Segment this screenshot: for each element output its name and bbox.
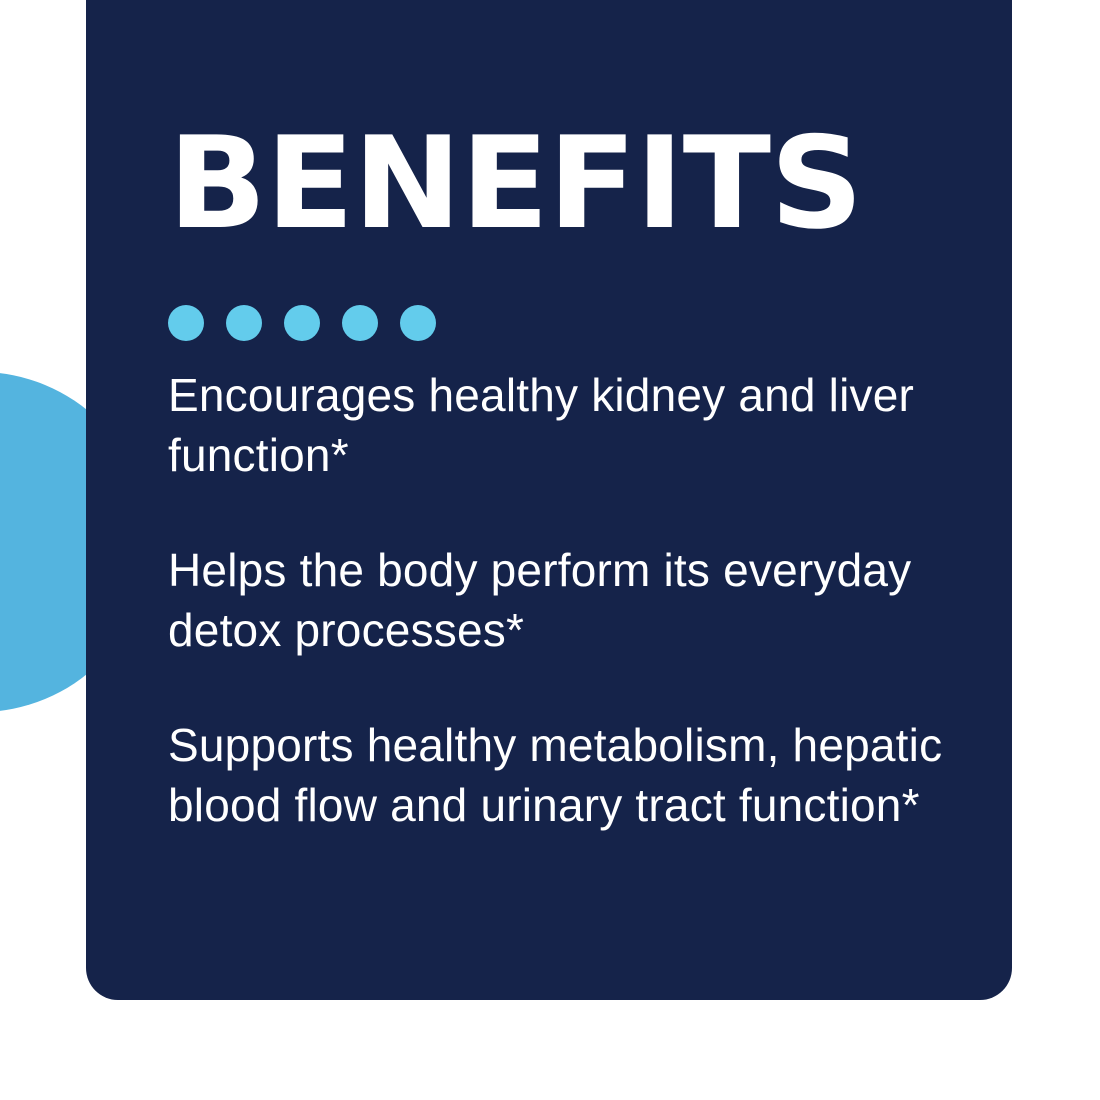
benefits-graphic: BENEFITS Encourages healthy kidney and l… — [0, 0, 1100, 1100]
page-title: BENEFITS — [168, 120, 862, 247]
divider-dot-icon — [400, 305, 436, 341]
divider-dot-icon — [226, 305, 262, 341]
divider-dot-icon — [168, 305, 204, 341]
benefit-item: Encourages healthy kidney and liver func… — [168, 365, 968, 485]
dot-divider — [168, 305, 436, 341]
divider-dot-icon — [284, 305, 320, 341]
divider-dot-icon — [342, 305, 378, 341]
benefit-item: Helps the body perform its everyday deto… — [168, 540, 968, 660]
benefit-list: Encourages healthy kidney and liver func… — [168, 365, 998, 835]
benefits-card: BENEFITS Encourages healthy kidney and l… — [86, 0, 1012, 1000]
benefit-item: Supports healthy metabolism, hepatic blo… — [168, 715, 998, 835]
